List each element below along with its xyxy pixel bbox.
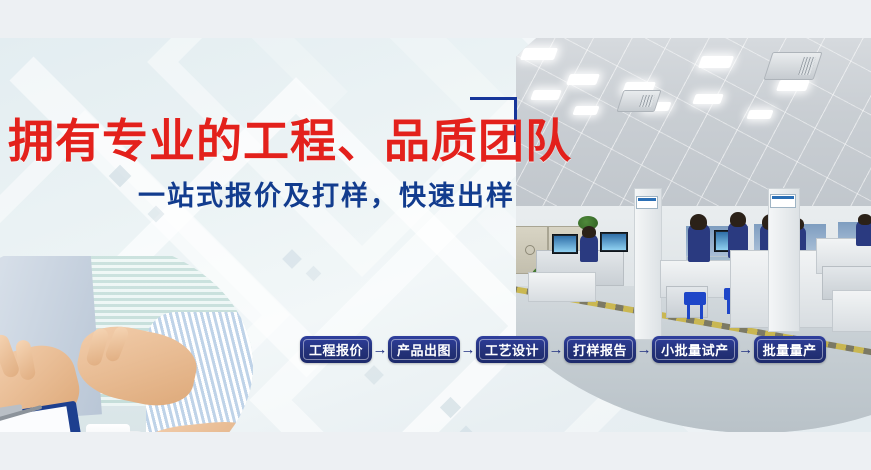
- flow-step-1[interactable]: 工程报价: [300, 336, 372, 363]
- monitor: [600, 232, 628, 252]
- flow-step-label: 小批量试产: [661, 340, 729, 359]
- ceiling-lamp: [692, 94, 724, 104]
- top-strip: [0, 0, 871, 38]
- flow-step-label: 批量量产: [763, 340, 817, 359]
- worker-hair: [582, 226, 596, 238]
- flow-step-label: 工艺设计: [485, 340, 539, 359]
- flow-step-5[interactable]: 小批量试产: [652, 336, 738, 363]
- ac-vent: [616, 90, 661, 112]
- ceiling-lamp: [520, 48, 558, 60]
- ceiling-lamp: [746, 110, 773, 119]
- office-scene: [516, 38, 871, 432]
- cabinet-unit: [832, 290, 871, 332]
- flow-step-4[interactable]: 打样报告: [564, 336, 636, 363]
- worker-hair: [730, 212, 746, 227]
- flow-arrow-icon: →: [548, 342, 564, 357]
- flow-arrow-icon: →: [372, 342, 388, 357]
- bottom-strip: [0, 432, 871, 470]
- desk-pedestal: [528, 272, 596, 302]
- flow-arrow-icon: →: [460, 342, 476, 357]
- headline: 拥有专业的工程、品质团队: [8, 118, 572, 164]
- ceiling-lamp: [776, 80, 810, 91]
- monitor: [552, 234, 578, 254]
- signage-label: [770, 194, 796, 208]
- worker-hair: [858, 214, 871, 225]
- signage-label: [636, 196, 658, 209]
- ceiling-lamp: [698, 56, 734, 68]
- partition-pillar: [634, 188, 662, 340]
- flow-step-2[interactable]: 产品出图: [388, 336, 460, 363]
- ceiling-lamp: [566, 74, 600, 85]
- ceiling-lamp: [572, 106, 599, 115]
- subheadline: 一站式报价及打样，快速出样: [138, 183, 515, 210]
- ac-vent: [763, 52, 822, 80]
- flow-arrow-icon: →: [738, 342, 754, 357]
- flow-step-label: 打样报告: [573, 340, 627, 359]
- office-photo: [516, 38, 871, 432]
- promo-banner: 拥有专业的工程、品质团队 一站式报价及打样，快速出样 工程报价 → 产品出图 →…: [0, 0, 871, 470]
- stool: [684, 292, 706, 305]
- flow-step-6[interactable]: 批量量产: [754, 336, 826, 363]
- process-flow: 工程报价 → 产品出图 → 工艺设计 → 打样报告 → 小批量试产 → 批量量产: [300, 336, 826, 363]
- worker-hair: [690, 214, 707, 230]
- ceiling-lamp: [530, 90, 562, 100]
- flow-step-label: 产品出图: [397, 340, 451, 359]
- partition-pillar: [768, 188, 800, 332]
- worker: [580, 234, 598, 262]
- flow-step-label: 工程报价: [309, 340, 363, 359]
- flow-step-3[interactable]: 工艺设计: [476, 336, 548, 363]
- flow-arrow-icon: →: [636, 342, 652, 357]
